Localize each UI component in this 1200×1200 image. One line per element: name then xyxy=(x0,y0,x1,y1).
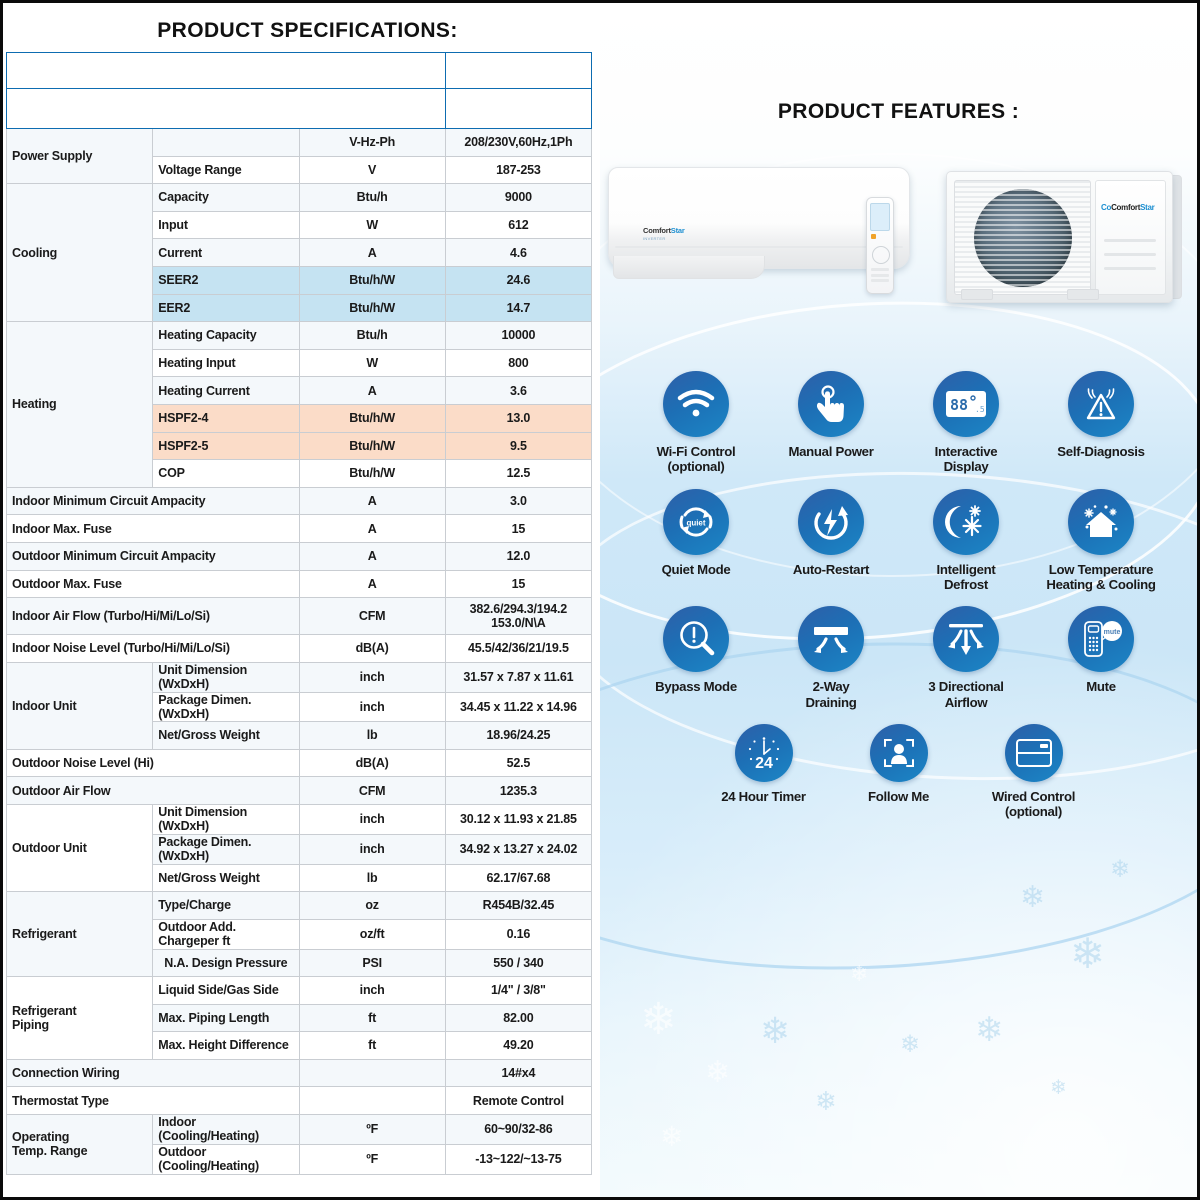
row-item: Current xyxy=(153,239,299,267)
feature-label-line-1: Wired Control xyxy=(992,789,1075,804)
row-item: Outdoor (Cooling/Heating) xyxy=(153,1144,299,1174)
clock-24-icon: 24 xyxy=(735,724,793,782)
indoor-unit-model: CPP3-09CD(I) xyxy=(445,53,591,89)
outdoor-body: CoComfortStar xyxy=(946,171,1173,303)
defrost-icon xyxy=(933,489,999,555)
outdoor-unit-image: CoComfortStar xyxy=(946,161,1181,316)
feature-label-line-2: (optional) xyxy=(992,804,1075,819)
snowflake-icon: ❄ xyxy=(640,998,677,1042)
row-value: -13~122/~13-75 xyxy=(445,1144,591,1174)
row-group-cooling: Cooling xyxy=(7,184,153,322)
row-value: 60~90/32-86 xyxy=(445,1115,591,1145)
snowflake-icon: ❄ xyxy=(1110,858,1130,882)
brand-text: Comfort xyxy=(643,226,671,235)
row-item: Package Dimen. (WxDxH) xyxy=(153,834,299,864)
feature-label-line-1: Low Temperature xyxy=(1046,562,1155,577)
piping-label-line-2: Piping xyxy=(12,1018,147,1032)
feature-self-diagnosis[interactable]: Self-Diagnosis xyxy=(1034,371,1169,475)
row-unit: A xyxy=(299,515,445,543)
display-icon: 88 .5 xyxy=(933,371,999,437)
row-unit: lb xyxy=(299,864,445,892)
specifications-table: INDOOR UNIT CPP3-09CD(I) OUTDOOR UNIT CP… xyxy=(6,52,592,1175)
svg-text:.5: .5 xyxy=(975,405,985,414)
features-row: quiet Quiet Mode xyxy=(600,489,1197,593)
table-row: Power Supply V-Hz-Ph 208/230V,60Hz,1Ph xyxy=(7,129,592,157)
table-header-indoor: INDOOR UNIT CPP3-09CD(I) xyxy=(7,53,592,89)
outdoor-foot xyxy=(1067,289,1099,300)
row-label-outdoor-air-flow: Outdoor Air Flow xyxy=(7,777,300,805)
row-item: Indoor (Cooling/Heating) xyxy=(153,1115,299,1145)
row-value: 13.0 xyxy=(445,405,591,433)
row-item: COP xyxy=(153,460,299,488)
row-unit: CFM xyxy=(299,777,445,805)
row-unit: dB(A) xyxy=(299,749,445,777)
feature-label-line-1: Follow Me xyxy=(868,789,929,804)
feature-2-way-draining[interactable]: 2-Way Draining xyxy=(764,606,899,710)
brand-accent: Star xyxy=(1140,203,1154,212)
row-item: Outdoor Add. Chargeper ft xyxy=(153,919,299,949)
feature-label-line-1: Wi-Fi Control xyxy=(657,444,736,459)
row-group-refrigerant: Refrigerant xyxy=(7,892,153,977)
product-spec-sheet: PRODUCT SPECIFICATIONS: INDOOR UNIT CPP3… xyxy=(0,0,1200,1200)
feature-label: 2-Way Draining xyxy=(805,679,856,710)
feature-manual-power[interactable]: Manual Power xyxy=(764,371,899,475)
snowflake-icon: ❄ xyxy=(1070,933,1105,975)
svg-text:88: 88 xyxy=(950,396,968,414)
feature-interactive-display[interactable]: 88 .5 Interactive Display xyxy=(899,371,1034,475)
feature-label-line-2: Heating & Cooling xyxy=(1046,577,1155,592)
table-row: Refrigerant Piping Liquid Side/Gas Side … xyxy=(7,977,592,1005)
row-item: Package Dimen. (WxDxH) xyxy=(153,692,299,722)
feature-label: Mute xyxy=(1086,679,1116,694)
indoor-unit-label: INDOOR UNIT xyxy=(7,53,446,89)
row-value: 31.57 x 7.87 x 11.61 xyxy=(445,662,591,692)
table-row: Indoor Air Flow (Turbo/Hi/Mi/Lo/Si) CFM … xyxy=(7,598,592,635)
row-value: 45.5/42/36/21/19.5 xyxy=(445,635,591,663)
row-value: 62.17/67.68 xyxy=(445,864,591,892)
feature-label-line-1: Bypass Mode xyxy=(655,679,737,694)
table-row: Outdoor Unit Unit Dimension (WxDxH) inch… xyxy=(7,805,592,835)
row-value: 12.0 xyxy=(445,543,591,571)
mute-remote-icon: mute xyxy=(1068,606,1134,672)
row-unit: Btu/h/W xyxy=(299,405,445,433)
row-item: SEER2 xyxy=(153,267,299,295)
table-row: Indoor Minimum Circuit Ampacity A 3.0 xyxy=(7,487,592,515)
wired-control-icon xyxy=(1005,724,1063,782)
row-value: 550 / 340 xyxy=(445,949,591,977)
row-unit: V-Hz-Ph xyxy=(299,129,445,157)
magnifier-alert-icon xyxy=(663,606,729,672)
row-item: Heating Current xyxy=(153,377,299,405)
feature-label-line-1: Intelligent xyxy=(937,562,996,577)
row-unit: inch xyxy=(299,977,445,1005)
remote-buttons xyxy=(871,268,889,284)
row-unit: Btu/h/W xyxy=(299,432,445,460)
row-value: 15 xyxy=(445,570,591,598)
feature-label-line-2: (optional) xyxy=(657,459,736,474)
airflow-line-2: 153.0/N\A xyxy=(451,616,586,630)
features-title: PRODUCT FEATURES : xyxy=(600,100,1197,124)
table-row: Outdoor Minimum Circuit Ampacity A 12.0 xyxy=(7,543,592,571)
page-title: PRODUCT SPECIFICATIONS: xyxy=(15,3,600,52)
auto-restart-icon xyxy=(798,489,864,555)
table-row: Indoor Unit Unit Dimension (WxDxH) inch … xyxy=(7,662,592,692)
row-unit: Btu/h/W xyxy=(299,267,445,295)
row-unit: A xyxy=(299,543,445,571)
quiet-icon: quiet xyxy=(663,489,729,555)
outdoor-slot xyxy=(1104,267,1156,270)
snowflake-icon: ❄ xyxy=(1020,883,1045,913)
row-value: 187-253 xyxy=(445,156,591,184)
indoor-unit-image: ComfortStar INVERTER xyxy=(608,167,910,269)
row-unit: inch xyxy=(299,805,445,835)
feature-label: Quiet Mode xyxy=(662,562,731,577)
piping-label-line-1: Refrigerant xyxy=(12,1004,147,1018)
row-unit: Btu/h/W xyxy=(299,294,445,322)
row-value: 4.6 xyxy=(445,239,591,267)
row-group-heating: Heating xyxy=(7,322,153,488)
row-value: 1/4" / 3/8" xyxy=(445,977,591,1005)
row-item: HSPF2-5 xyxy=(153,432,299,460)
features-row: Wi-Fi Control (optional) Manual Power xyxy=(600,371,1197,475)
row-value: 24.6 xyxy=(445,267,591,295)
wifi-icon xyxy=(663,371,729,437)
feature-label-line-1: Auto-Restart xyxy=(793,562,869,577)
feature-label: Wi-Fi Control (optional) xyxy=(657,444,736,475)
outdoor-front-panel: CoComfortStar xyxy=(1095,180,1166,295)
feature-mute[interactable]: mute Mute xyxy=(1034,606,1169,710)
feature-label: 3 Directional Airflow xyxy=(928,679,1003,710)
row-unit: dB(A) xyxy=(299,635,445,663)
outdoor-unit-model: CPP3-09CD(O) xyxy=(445,89,591,129)
snowflake-icon: ❄ xyxy=(760,1013,790,1049)
features-panel: ❄ ❄ ❄ ❄ ❄ ❄ ❄ ❄ ❄ ❄ ❄ ❄ PRODUCT FEATURES… xyxy=(600,3,1197,1197)
row-unit xyxy=(299,1087,445,1115)
row-group-refrigerant-piping: Refrigerant Piping xyxy=(7,977,153,1060)
row-value: 10000 xyxy=(445,322,591,350)
row-unit: Btu/h xyxy=(299,322,445,350)
row-value: 0.16 xyxy=(445,919,591,949)
feature-auto-restart[interactable]: Auto-Restart xyxy=(764,489,899,593)
row-label-connection-wiring: Connection Wiring xyxy=(7,1059,300,1087)
table-row: Outdoor Air Flow CFM 1235.3 xyxy=(7,777,592,805)
indoor-brand-logo: ComfortStar xyxy=(643,226,685,235)
feature-label-line-1: Quiet Mode xyxy=(662,562,731,577)
row-unit: A xyxy=(299,487,445,515)
row-item: Net/Gross Weight xyxy=(153,722,299,750)
feature-label: 24 Hour Timer xyxy=(721,789,806,804)
snowflake-icon: ❄ xyxy=(705,1058,730,1088)
row-group-outdoor-unit: Outdoor Unit xyxy=(7,805,153,892)
row-unit: Btu/h/W xyxy=(299,460,445,488)
row-item: Heating Capacity xyxy=(153,322,299,350)
row-group-operating-temp: Operating Temp. Range xyxy=(7,1115,153,1175)
feature-label: Interactive Display xyxy=(935,444,998,475)
row-item: Voltage Range xyxy=(153,156,299,184)
operating-label-line-1: Operating xyxy=(12,1130,147,1144)
table-header-outdoor: OUTDOOR UNIT CPP3-09CD(O) xyxy=(7,89,592,129)
row-value: 34.45 x 11.22 x 14.96 xyxy=(445,692,591,722)
svg-text:mute: mute xyxy=(1104,629,1121,636)
brand-accent: Star xyxy=(671,226,685,235)
row-value: Remote Control xyxy=(445,1087,591,1115)
row-unit: Btu/h xyxy=(299,184,445,212)
feature-label-line-1: 2-Way xyxy=(805,679,856,694)
row-unit: ºF xyxy=(299,1144,445,1174)
row-item: Net/Gross Weight xyxy=(153,864,299,892)
row-group-indoor-unit: Indoor Unit xyxy=(7,662,153,749)
row-value: 30.12 x 11.93 x 21.85 xyxy=(445,805,591,835)
row-unit: CFM xyxy=(299,598,445,635)
feature-quiet-mode[interactable]: quiet Quiet Mode xyxy=(629,489,764,593)
snowflake-icon: ❄ xyxy=(660,1123,683,1151)
row-unit: oz xyxy=(299,892,445,920)
feature-label-line-1: Manual Power xyxy=(788,444,873,459)
feature-label-line-1: Mute xyxy=(1086,679,1116,694)
row-value: 800 xyxy=(445,349,591,377)
row-label-outdoor-noise: Outdoor Noise Level (Hi) xyxy=(7,749,300,777)
feature-label-line-1: Self-Diagnosis xyxy=(1057,444,1144,459)
row-group-power-supply: Power Supply xyxy=(7,129,153,184)
row-label-indoor-max-fuse: Indoor Max. Fuse xyxy=(7,515,300,543)
row-unit: ft xyxy=(299,1032,445,1060)
row-unit: PSI xyxy=(299,949,445,977)
row-value: R454B/32.45 xyxy=(445,892,591,920)
remote-dial xyxy=(872,246,890,264)
brand-text: Comfort xyxy=(1111,203,1140,212)
airflow-line-1: 382.6/294.3/194.2 xyxy=(451,602,586,616)
row-value: 49.20 xyxy=(445,1032,591,1060)
table-row: Indoor Noise Level (Turbo/Hi/Mi/Lo/Si) d… xyxy=(7,635,592,663)
snowflake-icon: ❄ xyxy=(815,1088,837,1114)
outdoor-slot xyxy=(1104,253,1156,256)
specifications-panel: PRODUCT SPECIFICATIONS: INDOOR UNIT CPP3… xyxy=(3,3,600,1197)
row-value: 208/230V,60Hz,1Ph xyxy=(445,129,591,157)
row-item: Max. Piping Length xyxy=(153,1004,299,1032)
row-unit: lb xyxy=(299,722,445,750)
row-unit: A xyxy=(299,570,445,598)
feature-label-line-2: Display xyxy=(935,459,998,474)
row-item: Input xyxy=(153,211,299,239)
two-way-drain-icon xyxy=(798,606,864,672)
row-item xyxy=(153,129,299,157)
row-value-airflow: 382.6/294.3/194.2 153.0/N\A xyxy=(445,598,591,635)
row-item: Type/Charge xyxy=(153,892,299,920)
feature-label: Bypass Mode xyxy=(655,679,737,694)
follow-me-icon xyxy=(870,724,928,782)
brand-prefix: Co xyxy=(1101,203,1111,212)
table-row: Heating Heating Capacity Btu/h 10000 xyxy=(7,322,592,350)
row-value: 3.0 xyxy=(445,487,591,515)
row-item: Max. Height Difference xyxy=(153,1032,299,1060)
row-unit: V xyxy=(299,156,445,184)
table-row: Indoor Max. Fuse A 15 xyxy=(7,515,592,543)
remote-control-image xyxy=(866,197,894,294)
row-value: 82.00 xyxy=(445,1004,591,1032)
row-item: N.A. Design Pressure xyxy=(153,949,299,977)
row-value: 12.5 xyxy=(445,460,591,488)
row-item: Capacity xyxy=(153,184,299,212)
remote-screen xyxy=(870,203,890,231)
remote-power-button xyxy=(871,234,876,239)
indoor-brand-sub: INVERTER xyxy=(643,236,666,241)
feature-label: Follow Me xyxy=(868,789,929,804)
row-unit: inch xyxy=(299,692,445,722)
row-value: 1235.3 xyxy=(445,777,591,805)
outdoor-fan xyxy=(974,189,1072,287)
row-value: 15 xyxy=(445,515,591,543)
feature-label: Intelligent Defrost xyxy=(937,562,996,593)
outdoor-grille xyxy=(954,180,1091,295)
row-unit: oz/ft xyxy=(299,919,445,949)
features-grid: Wi-Fi Control (optional) Manual Power xyxy=(600,371,1197,820)
product-photos: ComfortStar INVERTER CoComfortStar xyxy=(608,161,1197,336)
snowflake-icon: ❄ xyxy=(975,1013,1004,1047)
table-row: Outdoor Max. Fuse A 15 xyxy=(7,570,592,598)
table-row: Connection Wiring 14#x4 xyxy=(7,1059,592,1087)
warning-triangle-icon xyxy=(1068,371,1134,437)
row-item: Liquid Side/Gas Side xyxy=(153,977,299,1005)
svg-text:24: 24 xyxy=(755,755,773,772)
feature-label: Manual Power xyxy=(788,444,873,459)
table-row: Outdoor Noise Level (Hi) dB(A) 52.5 xyxy=(7,749,592,777)
row-value: 14.7 xyxy=(445,294,591,322)
feature-follow-me[interactable]: Follow Me xyxy=(831,724,966,820)
row-item: Unit Dimension (WxDxH) xyxy=(153,805,299,835)
feature-bypass-mode[interactable]: Bypass Mode xyxy=(629,606,764,710)
house-snow-icon xyxy=(1068,489,1134,555)
feature-intelligent-defrost[interactable]: Intelligent Defrost xyxy=(899,489,1034,593)
three-direction-airflow-icon xyxy=(933,606,999,672)
row-label-outdoor-min-circuit: Outdoor Minimum Circuit Ampacity xyxy=(7,543,300,571)
outdoor-foot xyxy=(961,289,993,300)
feature-label: Wired Control (optional) xyxy=(992,789,1075,820)
feature-label: Self-Diagnosis xyxy=(1057,444,1144,459)
row-value: 52.5 xyxy=(445,749,591,777)
snowflake-icon: ❄ xyxy=(850,963,868,985)
row-value: 9.5 xyxy=(445,432,591,460)
row-value: 612 xyxy=(445,211,591,239)
row-item: Unit Dimension (WxDxH) xyxy=(153,662,299,692)
row-unit: ft xyxy=(299,1004,445,1032)
row-unit: W xyxy=(299,349,445,377)
feature-label-line-1: 3 Directional xyxy=(928,679,1003,694)
feature-3-directional-airflow[interactable]: 3 Directional Airflow xyxy=(899,606,1034,710)
features-row: 24 24 Hour Timer xyxy=(600,724,1197,820)
outdoor-slot xyxy=(1104,239,1156,242)
row-unit: A xyxy=(299,239,445,267)
row-item: EER2 xyxy=(153,294,299,322)
row-value: 34.92 x 13.27 x 24.02 xyxy=(445,834,591,864)
feature-wired-control[interactable]: Wired Control (optional) xyxy=(966,724,1101,820)
feature-label: Auto-Restart xyxy=(793,562,869,577)
feature-low-temperature[interactable]: Low Temperature Heating & Cooling xyxy=(1034,489,1169,593)
row-label-indoor-noise: Indoor Noise Level (Turbo/Hi/Mi/Lo/Si) xyxy=(7,635,300,663)
snowflake-icon: ❄ xyxy=(1050,1078,1067,1098)
row-unit: A xyxy=(299,377,445,405)
row-label-indoor-min-circuit: Indoor Minimum Circuit Ampacity xyxy=(7,487,300,515)
hand-touch-icon xyxy=(798,371,864,437)
row-unit: ºF xyxy=(299,1115,445,1145)
feature-label-line-2: Draining xyxy=(805,695,856,710)
row-label-indoor-air-flow: Indoor Air Flow (Turbo/Hi/Mi/Lo/Si) xyxy=(7,598,300,635)
table-row: Cooling Capacity Btu/h 9000 xyxy=(7,184,592,212)
feature-label-line-1: 24 Hour Timer xyxy=(721,789,806,804)
row-unit: inch xyxy=(299,834,445,864)
feature-label-line-1: Interactive xyxy=(935,444,998,459)
feature-label-line-2: Defrost xyxy=(937,577,996,592)
table-row: Operating Temp. Range Indoor (Cooling/He… xyxy=(7,1115,592,1145)
row-unit xyxy=(299,1059,445,1087)
row-label-thermostat-type: Thermostat Type xyxy=(7,1087,300,1115)
outdoor-brand-logo: CoComfortStar xyxy=(1101,203,1154,212)
snowflake-icon: ❄ xyxy=(900,1033,920,1057)
feature-label: Low Temperature Heating & Cooling xyxy=(1046,562,1155,593)
row-value: 3.6 xyxy=(445,377,591,405)
feature-24-hour-timer[interactable]: 24 24 Hour Timer xyxy=(696,724,831,820)
features-row: Bypass Mode 2-Way xyxy=(600,606,1197,710)
feature-wifi-control[interactable]: Wi-Fi Control (optional) xyxy=(629,371,764,475)
operating-label-line-2: Temp. Range xyxy=(12,1144,147,1158)
table-row: Thermostat Type Remote Control xyxy=(7,1087,592,1115)
row-unit: W xyxy=(299,211,445,239)
feature-label-line-2: Airflow xyxy=(928,695,1003,710)
row-unit: inch xyxy=(299,662,445,692)
svg-text:quiet: quiet xyxy=(686,518,705,527)
row-label-outdoor-max-fuse: Outdoor Max. Fuse xyxy=(7,570,300,598)
table-row: Refrigerant Type/Charge oz R454B/32.45 xyxy=(7,892,592,920)
indoor-vent xyxy=(613,256,765,279)
row-value: 18.96/24.25 xyxy=(445,722,591,750)
row-value: 14#x4 xyxy=(445,1059,591,1087)
row-item: HSPF2-4 xyxy=(153,405,299,433)
row-item: Heating Input xyxy=(153,349,299,377)
row-value: 9000 xyxy=(445,184,591,212)
outdoor-unit-label: OUTDOOR UNIT xyxy=(7,89,446,129)
